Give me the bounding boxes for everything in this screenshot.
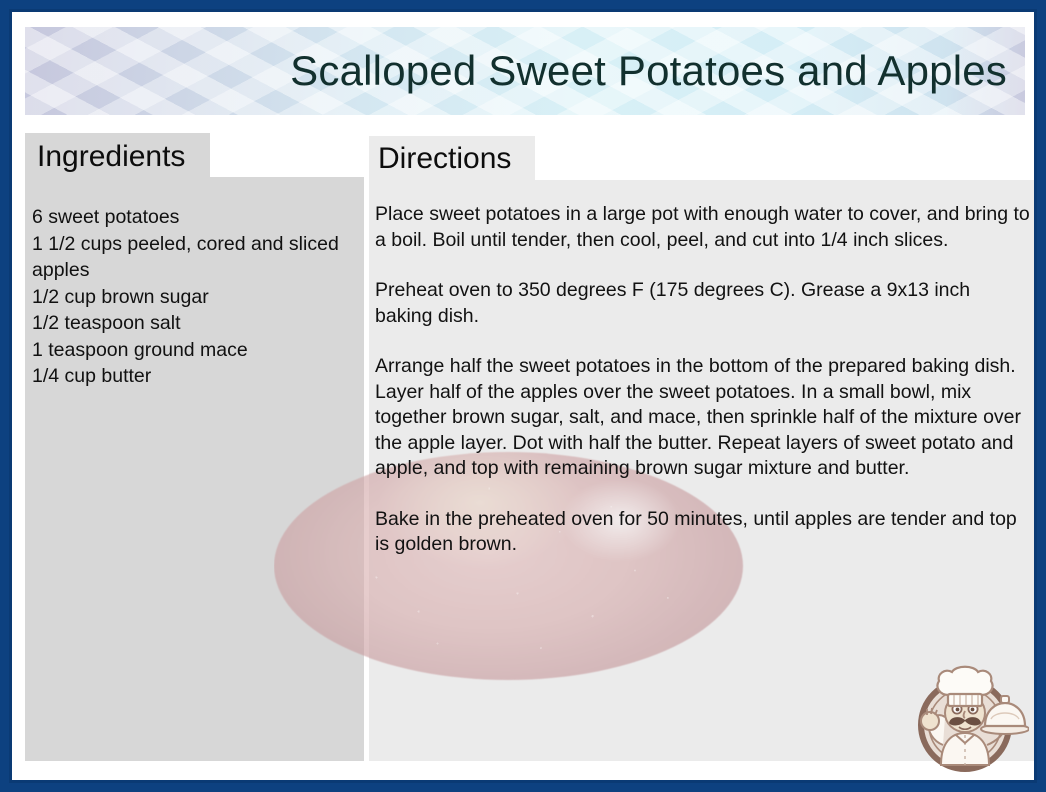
ingredients-panel: 6 sweet potatoes 1 1/2 cups peeled, core…	[25, 177, 364, 761]
ingredients-list: 6 sweet potatoes 1 1/2 cups peeled, core…	[32, 204, 356, 390]
direction-step: Arrange half the sweet potatoes in the b…	[375, 354, 1031, 482]
direction-step: Preheat oven to 350 degrees F (175 degre…	[375, 278, 1031, 329]
page-title: Scalloped Sweet Potatoes and Apples	[25, 47, 1007, 95]
list-item: 1 teaspoon ground mace	[32, 337, 356, 364]
list-item: 1 1/2 cups peeled, cored and sliced appl…	[32, 231, 356, 284]
list-item: 1/2 teaspoon salt	[32, 310, 356, 337]
ingredients-heading-tab: Ingredients	[25, 133, 210, 177]
chef-logo	[901, 653, 1029, 781]
direction-step: Bake in the preheated oven for 50 minute…	[375, 507, 1031, 558]
title-banner: Scalloped Sweet Potatoes and Apples	[25, 27, 1025, 115]
direction-step: Place sweet potatoes in a large pot with…	[375, 202, 1031, 253]
directions-steps: Place sweet potatoes in a large pot with…	[375, 202, 1031, 558]
recipe-slide: Scalloped Sweet Potatoes and Apples Ingr…	[0, 0, 1046, 792]
directions-heading-label: Directions	[378, 139, 511, 179]
list-item: 1/4 cup butter	[32, 363, 356, 390]
directions-heading-tab: Directions	[369, 136, 535, 180]
list-item: 6 sweet potatoes	[32, 204, 356, 231]
list-item: 1/2 cup brown sugar	[32, 284, 356, 311]
ingredients-heading-label: Ingredients	[37, 137, 185, 177]
